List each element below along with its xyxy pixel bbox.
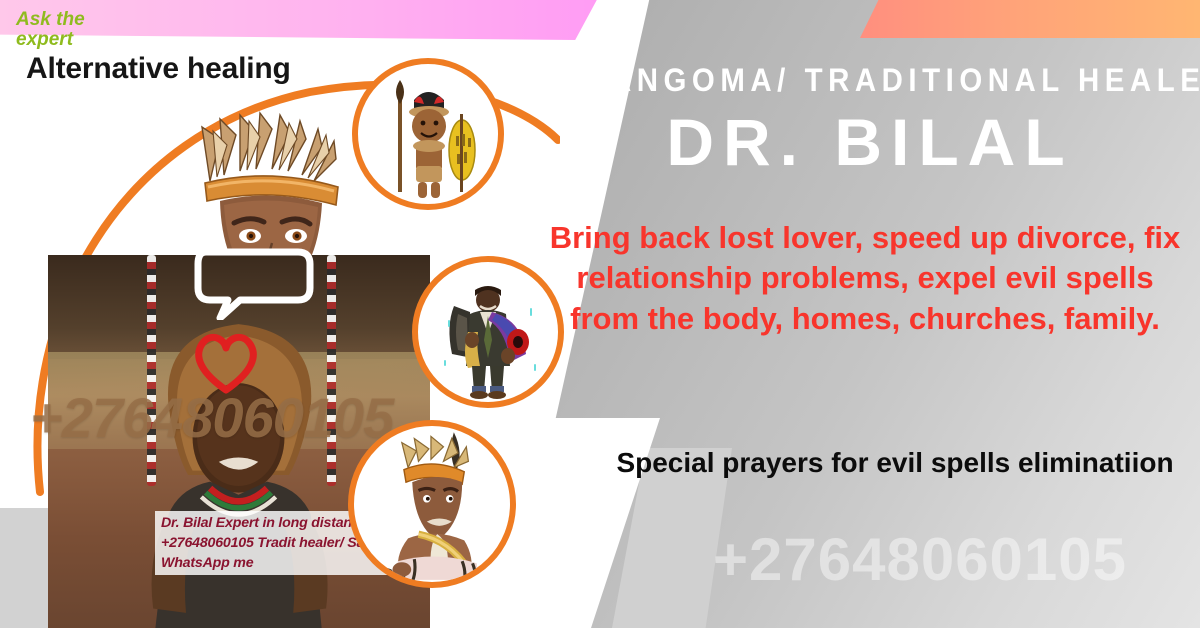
heart-icon	[190, 330, 262, 396]
special-offer-text: Special prayers for evil spells eliminat…	[600, 444, 1190, 481]
headline-kicker: SANGOMA/ TRADITIONAL HEALER	[585, 62, 1155, 99]
services-text: Bring back lost lover, speed up divorce,…	[540, 218, 1190, 339]
headline-name: DR. BILAL	[560, 108, 1180, 177]
contact-watermark-phone: +27648060105	[640, 525, 1200, 594]
poster-canvas: Alternative healing	[0, 0, 1200, 628]
orange-accent-band	[860, 0, 1200, 38]
speech-bubble	[194, 248, 314, 320]
callout-circle-zulu-warrior	[352, 58, 504, 210]
healer-with-blanket-and-bag-icon	[418, 262, 558, 402]
speech-bubble-text: Ask the expert	[16, 10, 112, 50]
crouching-warrior-with-feather-headdress-icon	[354, 426, 510, 582]
zulu-warrior-with-spear-and-shield-icon	[358, 64, 498, 204]
page-title: Alternative healing	[26, 52, 291, 86]
callout-circle-crouching-warrior	[348, 420, 516, 588]
